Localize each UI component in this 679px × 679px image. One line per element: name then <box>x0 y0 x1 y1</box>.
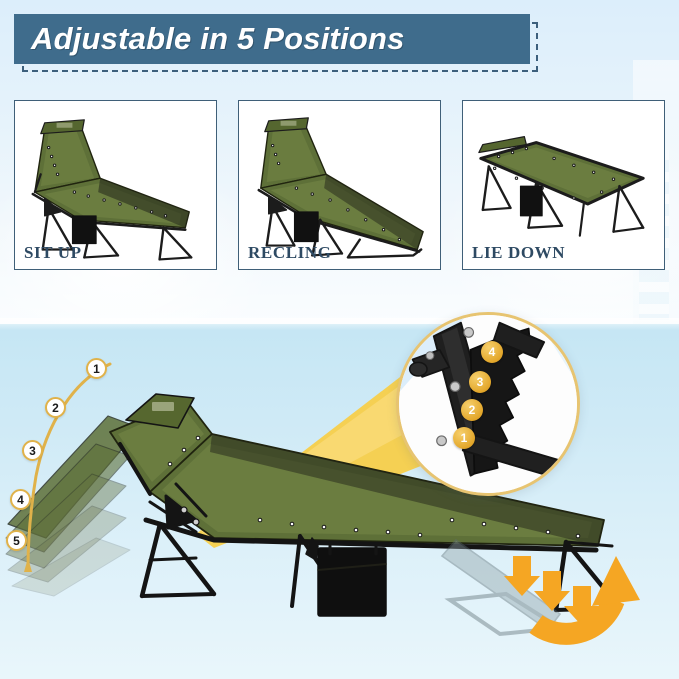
notch-badge-4: 4 <box>481 341 503 363</box>
infographic-root: Adjustable in 5 Positions <box>0 0 679 679</box>
position-panels: SIT UP <box>14 100 665 270</box>
panel-label-lie-down: LIE DOWN <box>472 243 565 263</box>
notch-badge-1: 1 <box>453 427 475 449</box>
banner-box: Adjustable in 5 Positions <box>14 14 530 64</box>
panel-label-sit-up: SIT UP <box>24 243 82 263</box>
panel-lie-down[interactable]: LIE DOWN <box>462 100 665 270</box>
notch-badge-3: 3 <box>469 371 491 393</box>
folding-motion-indicator <box>0 324 679 679</box>
panel-recling[interactable]: RECLING <box>238 100 441 270</box>
title-banner: Adjustable in 5 Positions <box>14 14 530 64</box>
panel-sit-up[interactable]: SIT UP <box>14 100 217 270</box>
zoom-callout-circle: 4 3 2 1 <box>396 312 580 496</box>
panel-label-recling: RECLING <box>248 243 332 263</box>
main-scene: 1 2 3 4 5 <box>0 324 679 679</box>
notch-badge-2: 2 <box>461 399 483 421</box>
page-title: Adjustable in 5 Positions <box>14 21 405 57</box>
